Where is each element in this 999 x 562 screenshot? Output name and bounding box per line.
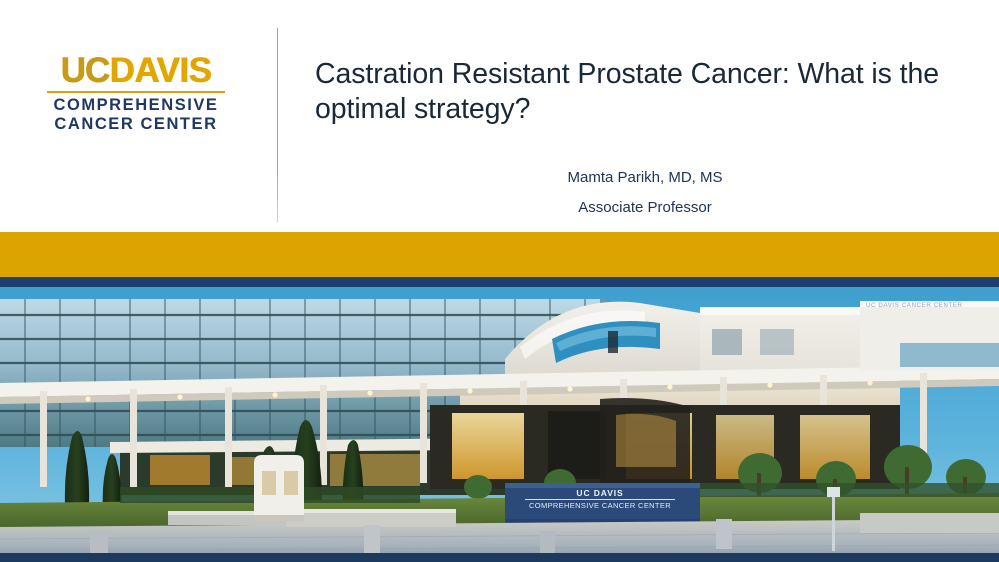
logo-subtitle-line1: COMPREHENSIVE	[36, 96, 236, 116]
right-wing-building	[860, 301, 999, 371]
author-position: Associate Professor	[315, 193, 975, 223]
guard-kiosk	[254, 455, 304, 521]
logo-wordmark-davis: DAVIS	[109, 51, 211, 90]
author-block: Mamta Parikh, MD, MS Associate Professor	[315, 163, 975, 223]
monument-sign-title: UC DAVIS	[512, 488, 688, 498]
monument-sign-rule	[525, 499, 675, 500]
vertical-divider	[277, 28, 278, 222]
building-photo-artwork	[0, 287, 999, 562]
uc-davis-comprehensive-cancer-center-logo: UCDAVIS COMPREHENSIVE CANCER CENTER	[36, 52, 236, 135]
monument-sign-subtitle: COMPREHENSIVE CANCER CENTER	[512, 501, 688, 510]
logo-wordmark: UCDAVIS	[36, 52, 236, 90]
monument-sign-text: UC DAVIS COMPREHENSIVE CANCER CENTER	[512, 488, 688, 510]
logo-divider-rule	[47, 91, 225, 93]
photo-bottom-band	[0, 553, 999, 562]
title-slide: UCDAVIS COMPREHENSIVE CANCER CENTER Cast…	[0, 0, 999, 562]
slide-header: UCDAVIS COMPREHENSIVE CANCER CENTER Cast…	[0, 0, 999, 232]
page-title: Castration Resistant Prostate Cancer: Wh…	[315, 57, 975, 127]
cancer-center-building-photo	[0, 287, 999, 562]
navy-accent-strip	[0, 277, 999, 287]
building-facade-sign-text: UC DAVIS CANCER CENTER	[866, 303, 963, 309]
gold-accent-band	[0, 232, 999, 277]
logo-wordmark-uc: UC	[61, 51, 110, 90]
author-name: Mamta Parikh, MD, MS	[315, 163, 975, 193]
logo-subtitle-line2: CANCER CENTER	[36, 115, 236, 135]
